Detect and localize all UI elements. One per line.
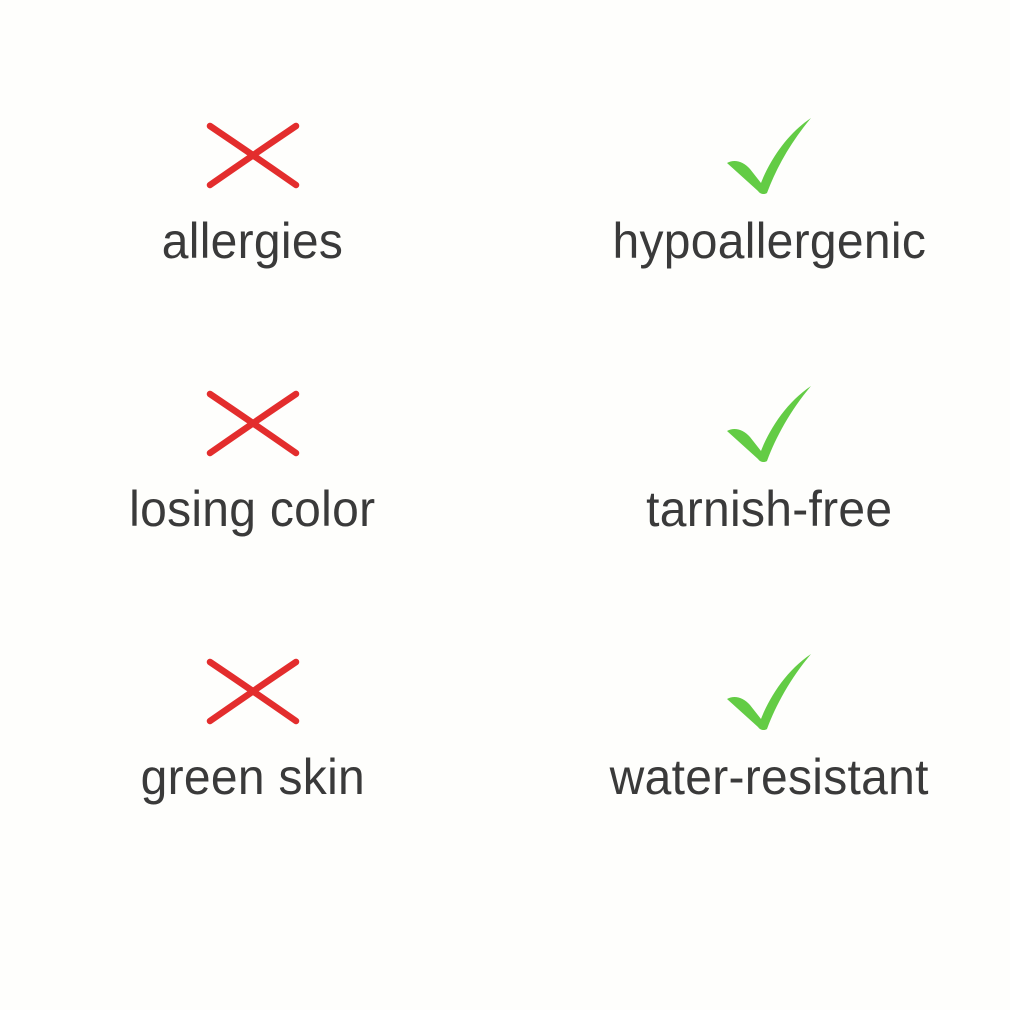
comparison-label: water-resistant	[610, 750, 929, 804]
benefits-comparison-board: allergies hypoallergenic losing color	[0, 0, 1010, 1010]
comparison-row: green skin water-resistant	[0, 644, 1010, 912]
comparison-label: tarnish-free	[646, 482, 892, 536]
comparison-cell-negative: losing color	[0, 376, 517, 644]
comparison-row: losing color tarnish-free	[0, 376, 1010, 644]
red-x-icon	[193, 108, 313, 204]
comparison-label: allergies	[162, 214, 343, 268]
red-x-icon	[193, 376, 313, 472]
green-check-icon	[710, 644, 830, 740]
comparison-label: losing color	[129, 482, 375, 536]
green-check-icon	[710, 108, 830, 204]
comparison-row: allergies hypoallergenic	[0, 108, 1010, 376]
comparison-label: green skin	[140, 750, 364, 804]
red-x-icon	[193, 644, 313, 740]
comparison-cell-negative: green skin	[0, 644, 517, 912]
comparison-cell-positive: tarnish-free	[517, 376, 1010, 644]
comparison-label: hypoallergenic	[613, 214, 927, 268]
green-check-icon	[710, 376, 830, 472]
comparison-cell-positive: hypoallergenic	[517, 108, 1010, 376]
comparison-cell-positive: water-resistant	[517, 644, 1010, 912]
comparison-cell-negative: allergies	[0, 108, 517, 376]
